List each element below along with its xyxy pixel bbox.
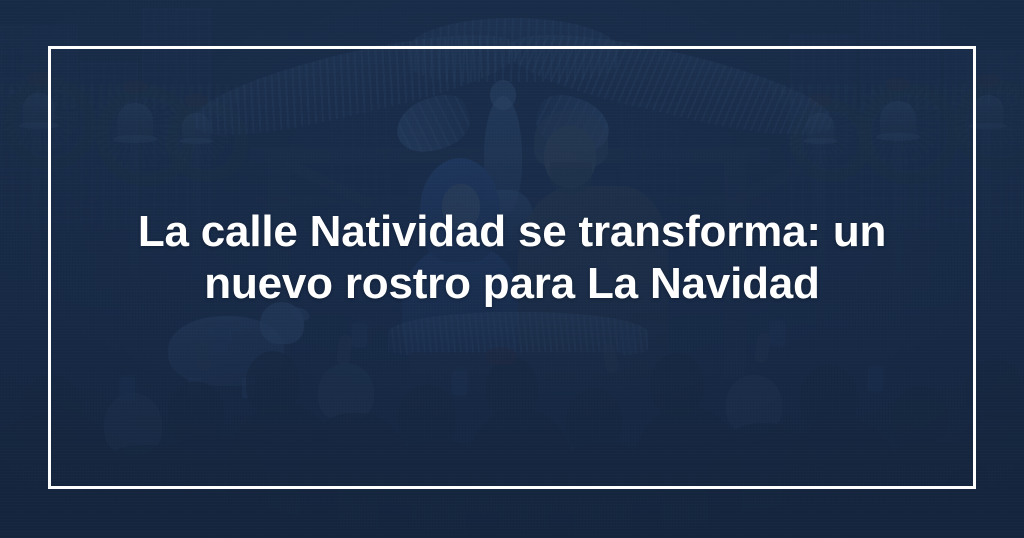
page-title: La calle Natividad se transforma: un nue… <box>0 206 1024 310</box>
headline-line-1: La calle Natividad se transforma: un <box>110 206 914 258</box>
headline-line-2: nuevo rostro para La Navidad <box>110 258 914 310</box>
hero-banner: La calle Natividad se transforma: un nue… <box>0 0 1024 538</box>
